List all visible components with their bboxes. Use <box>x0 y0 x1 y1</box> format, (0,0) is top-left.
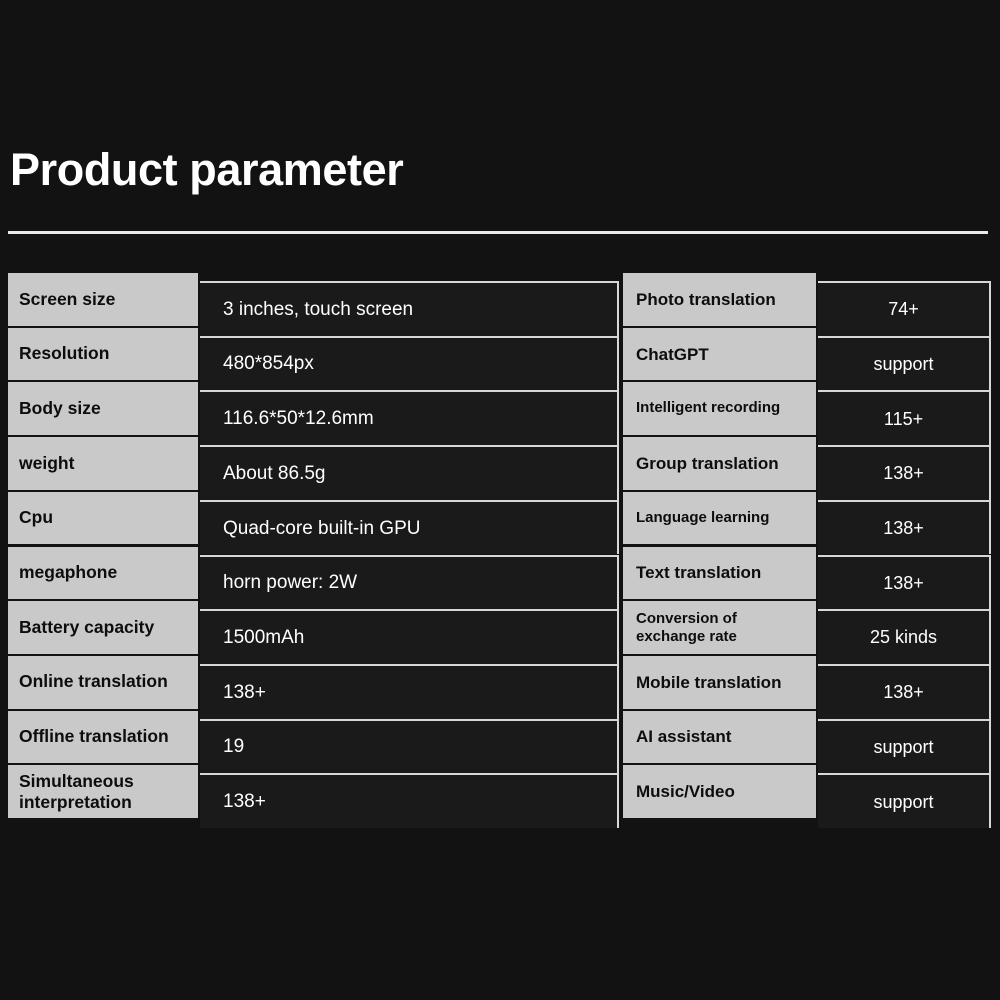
spec-value-text: 115+ <box>884 409 923 429</box>
spec-label-text: Online translation <box>19 672 168 692</box>
page-title: Product parameter <box>10 146 403 193</box>
spec-label-cell: Screen size <box>8 273 198 328</box>
spec-label-cell: ChatGPT <box>623 328 816 383</box>
table-row: Body size 116.6*50*12.6mm <box>8 382 619 437</box>
spec-label-text: Simultaneous interpretation <box>19 771 192 812</box>
spec-label-text: Music/Video <box>636 782 735 801</box>
spec-value-text: 1500mAh <box>223 627 304 648</box>
spec-label-text: Offline translation <box>19 727 169 747</box>
spec-value-text: 25 kinds <box>870 627 937 647</box>
spec-label-text: Screen size <box>19 290 115 310</box>
spec-label-cell: Battery capacity <box>8 601 198 656</box>
table-row: Battery capacity 1500mAh <box>8 601 619 656</box>
table-row: Offline translation 19 <box>8 711 619 766</box>
title-divider <box>8 231 988 234</box>
spec-value-text: support <box>873 792 933 812</box>
spec-label-text: Text translation <box>636 563 761 582</box>
spec-label-text: Conversion of exchange rate <box>636 610 810 645</box>
spec-value-text: 138+ <box>883 463 924 483</box>
table-row: Intelligent recording 115+ <box>623 382 991 437</box>
table-row: Text translation 138+ <box>623 547 991 602</box>
spec-table-left-half: Screen size 3 inches, touch screen Resol… <box>8 273 619 820</box>
spec-value-text: 74+ <box>888 299 919 319</box>
spec-value-text: 19 <box>223 736 244 757</box>
spec-label-cell: AI assistant <box>623 711 816 766</box>
spec-label-text: Mobile translation <box>636 673 781 692</box>
spec-table: Screen size 3 inches, touch screen Resol… <box>8 273 991 820</box>
spec-value-cell: support <box>818 773 991 828</box>
spec-value-text: horn power: 2W <box>223 572 357 593</box>
spec-label-text: Body size <box>19 399 101 419</box>
spec-label-cell: Resolution <box>8 328 198 383</box>
table-row: Cpu Quad-core built-in GPU <box>8 492 619 547</box>
spec-value-text: 138+ <box>223 791 266 812</box>
spec-value-text: 138+ <box>223 682 266 703</box>
table-row: Mobile translation 138+ <box>623 656 991 711</box>
table-row: Photo translation 74+ <box>623 273 991 328</box>
spec-label-text: Group translation <box>636 454 779 473</box>
spec-value-text: About 86.5g <box>223 463 325 484</box>
spec-label-text: megaphone <box>19 563 117 583</box>
spec-value-text: 138+ <box>883 518 924 538</box>
spec-label-cell: megaphone <box>8 547 198 602</box>
spec-label-cell: weight <box>8 437 198 492</box>
table-row: Screen size 3 inches, touch screen <box>8 273 619 328</box>
spec-label-cell: Body size <box>8 382 198 437</box>
spec-label-cell: Music/Video <box>623 765 816 820</box>
spec-value-text: support <box>873 354 933 374</box>
spec-label-cell: Text translation <box>623 547 816 602</box>
spec-value-cell: 138+ <box>200 773 619 828</box>
spec-value-text: support <box>873 737 933 757</box>
spec-label-cell: Cpu <box>8 492 198 547</box>
spec-label-cell: Simultaneous interpretation <box>8 765 198 820</box>
spec-label-cell: Group translation <box>623 437 816 492</box>
spec-label-text: Photo translation <box>636 290 776 309</box>
spec-label-text: Intelligent recording <box>636 400 780 417</box>
spec-value-text: Quad-core built-in GPU <box>223 518 420 539</box>
spec-label-text: ChatGPT <box>636 345 709 364</box>
spec-label-text: Cpu <box>19 508 53 528</box>
table-row: megaphone horn power: 2W <box>8 547 619 602</box>
spec-value-text: 138+ <box>883 573 924 593</box>
table-row: Resolution 480*854px <box>8 328 619 383</box>
table-row: AI assistant support <box>623 711 991 766</box>
spec-label-cell: Intelligent recording <box>623 382 816 437</box>
spec-label-text: weight <box>19 454 74 474</box>
spec-label-text: AI assistant <box>636 727 731 746</box>
spec-label-text: Battery capacity <box>19 618 154 638</box>
table-row: Language learning 138+ <box>623 492 991 547</box>
spec-label-cell: Conversion of exchange rate <box>623 601 816 656</box>
table-row: Simultaneous interpretation 138+ <box>8 765 619 820</box>
spec-label-text: Resolution <box>19 344 109 364</box>
spec-table-right-half: Photo translation 74+ ChatGPT support In… <box>623 273 991 820</box>
table-row: ChatGPT support <box>623 328 991 383</box>
spec-label-cell: Language learning <box>623 492 816 547</box>
spec-value-text: 480*854px <box>223 353 314 374</box>
spec-label-cell: Online translation <box>8 656 198 711</box>
table-row: weight About 86.5g <box>8 437 619 492</box>
spec-label-cell: Offline translation <box>8 711 198 766</box>
spec-value-text: 138+ <box>883 682 924 702</box>
table-row: Conversion of exchange rate 25 kinds <box>623 601 991 656</box>
table-row: Group translation 138+ <box>623 437 991 492</box>
spec-label-text: Language learning <box>636 510 769 527</box>
table-row: Music/Video support <box>623 765 991 820</box>
spec-value-text: 3 inches, touch screen <box>223 299 413 320</box>
product-parameter-page: Product parameter Screen size 3 inches, … <box>0 0 1000 1000</box>
spec-label-cell: Mobile translation <box>623 656 816 711</box>
spec-value-text: 116.6*50*12.6mm <box>223 408 374 429</box>
table-row: Online translation 138+ <box>8 656 619 711</box>
spec-label-cell: Photo translation <box>623 273 816 328</box>
